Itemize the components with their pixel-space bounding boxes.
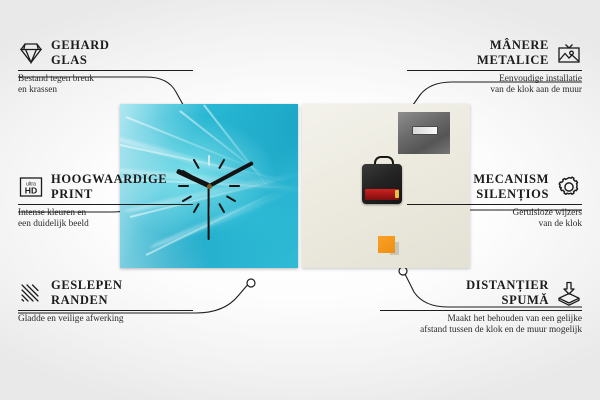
- feature-hoogwaardige-print: ultra HD HOOGWAARDIGE PRINT Intense kleu…: [18, 172, 193, 231]
- gear-icon: [556, 174, 582, 200]
- svg-text:HD: HD: [25, 185, 37, 195]
- foam-spacer-part: [378, 236, 395, 253]
- feature-title: MÂNERE METALICE: [477, 38, 549, 67]
- battery-part: [365, 189, 399, 200]
- hanger-slot: [412, 126, 438, 135]
- feature-subtitle: Eenvoudige installatie van de klok aan d…: [407, 74, 582, 97]
- feature-title: HOOGWAARDIGE PRINT: [51, 172, 167, 201]
- feature-subtitle: Intense kleuren en een duidelijk beeld: [18, 208, 193, 231]
- feature-title: GESLEPEN RANDEN: [51, 278, 123, 307]
- endpoint-randen: [247, 279, 255, 287]
- feature-subtitle: Gladde en veilige afwerking: [18, 314, 193, 325]
- divider: [18, 310, 193, 311]
- feature-title: GEHARD GLAS: [51, 38, 109, 67]
- feature-subtitle: Maakt het behouden van een gelijke afsta…: [380, 314, 582, 337]
- picture-hanger-icon: [556, 40, 582, 66]
- infographic-canvas: GEHARD GLAS Bestand tegen breuk en krass…: [0, 0, 600, 400]
- divider: [407, 204, 582, 205]
- feature-title: DISTANȚIER SPUMĂ: [466, 278, 549, 307]
- divider: [380, 310, 582, 311]
- divider: [18, 204, 193, 205]
- clock-second-hand: [208, 186, 210, 240]
- feature-gehard-glas: GEHARD GLAS Bestand tegen breuk en krass…: [18, 38, 193, 97]
- feature-distantier-spuma: DISTANȚIER SPUMĂ Maakt het behouden van …: [380, 278, 582, 337]
- feature-subtitle: Bestand tegen breuk en krassen: [18, 74, 193, 97]
- ground-edges-icon: [18, 280, 44, 306]
- feature-manere-metalice: MÂNERE METALICE Eenvoudige installatie v…: [407, 38, 582, 97]
- endpoint-distantier: [399, 267, 407, 275]
- clock-center-pin: [207, 184, 212, 189]
- feature-geslepen-randen: GESLEPEN RANDEN Gladde en veilige afwerk…: [18, 278, 193, 325]
- diamond-icon: [18, 40, 44, 66]
- feature-subtitle: Geruisloze wijzers van de klok: [407, 208, 582, 231]
- divider: [407, 70, 582, 71]
- ultra-hd-badge-icon: ultra HD: [18, 174, 44, 200]
- spacer-pad-icon: [556, 280, 582, 306]
- divider: [18, 70, 193, 71]
- battery-terminal: [395, 190, 399, 198]
- feature-mecanism-silentios: MECANISM SILENȚIOS Geruisloze wijzers va…: [407, 172, 582, 231]
- feature-title: MECANISM SILENȚIOS: [473, 172, 549, 201]
